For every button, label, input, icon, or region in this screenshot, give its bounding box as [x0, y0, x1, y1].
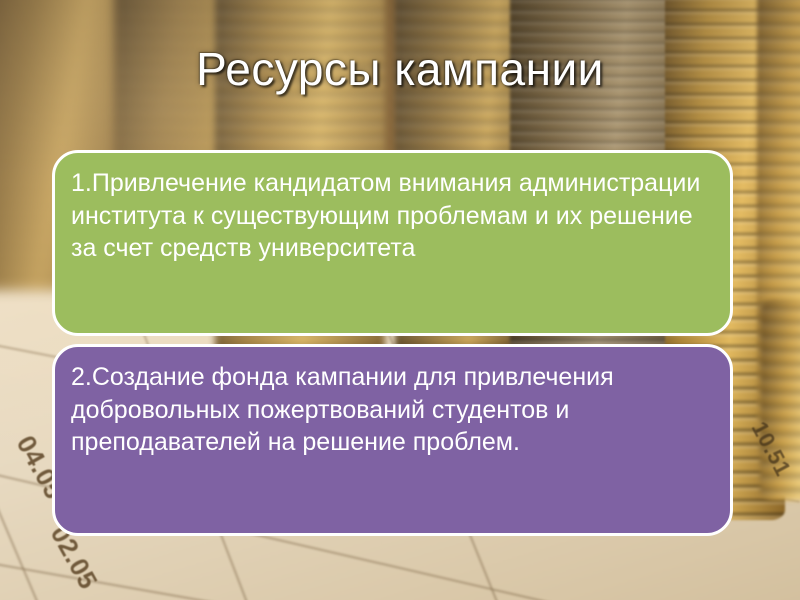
content-box-2: 2.Создание фонда кампании для привлечени… [52, 344, 733, 536]
presentation-slide: 04.05 02.05 10.51 Ресурсы кампании 1.При… [0, 0, 800, 600]
page-title: Ресурсы кампании [0, 42, 800, 96]
content-box-1: 1.Привлечение кандидатом внимания админи… [52, 150, 733, 336]
content-box-2-text: 2.Создание фонда кампании для привлечени… [71, 361, 712, 459]
ledger-mark: 10.51 [746, 417, 796, 480]
content-box-1-text: 1.Привлечение кандидатом внимания админи… [71, 167, 712, 265]
